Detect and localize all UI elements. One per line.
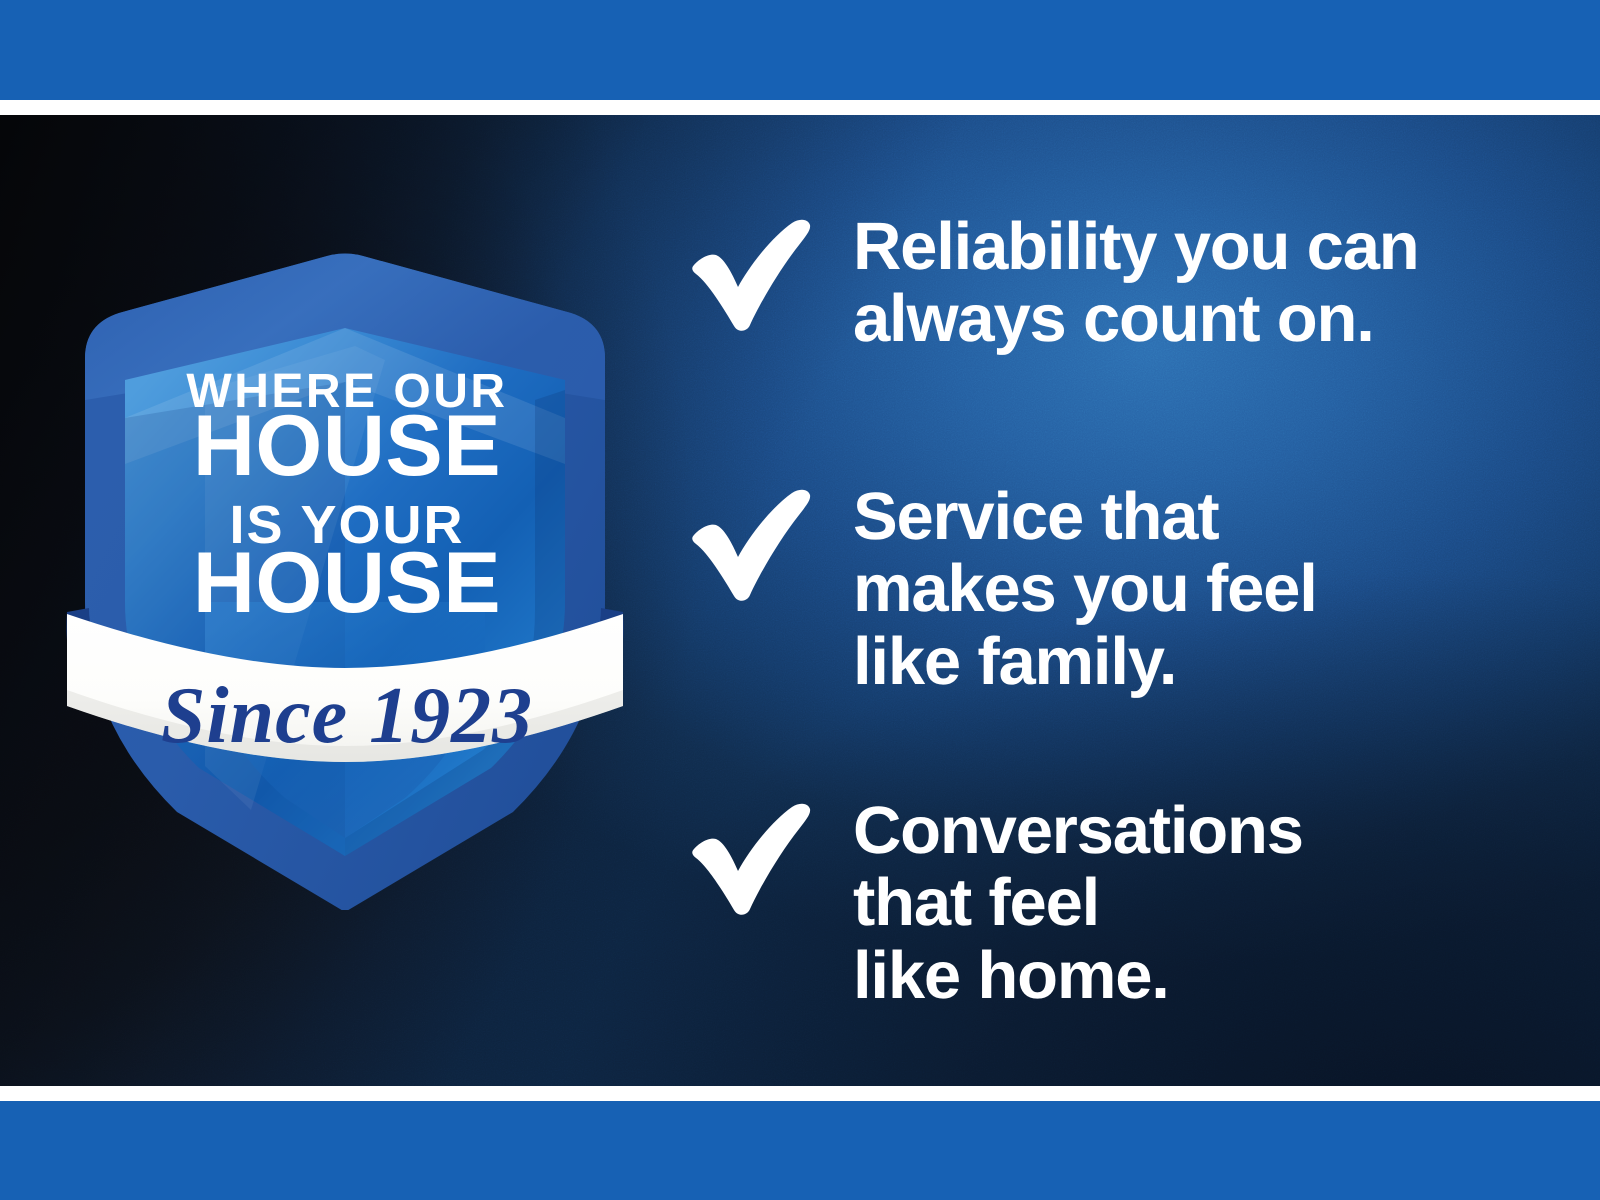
bottom-white-divider [0,1086,1600,1101]
top-white-divider [0,100,1600,115]
shield-text-block: WHERE OUR HOUSE IS YOUR HOUSE [186,365,507,631]
top-brand-bar [0,0,1600,100]
main-content-area: WHERE OUR HOUSE IS YOUR HOUSE Since 1923 [0,115,1600,1086]
benefit-text-conversations: Conversations that feel like home. [853,795,1583,1012]
bottom-brand-bar [0,1101,1600,1200]
promotional-banner: WHERE OUR HOUSE IS YOUR HOUSE Since 1923 [0,0,1600,1200]
checkmark-icon [680,217,822,335]
checkmark-icon [680,487,822,605]
benefit-text-reliability: Reliability you can always count on. [853,211,1583,356]
company-shield-logo: WHERE OUR HOUSE IS YOUR HOUSE Since 1923 [55,250,635,910]
checkmark-icon [680,801,822,919]
shield-line-2: HOUSE [193,398,501,494]
since-banner-text: Since 1923 [161,672,533,760]
benefit-text-service: Service that makes you feel like family. [853,481,1583,698]
shield-line-4: HOUSE [193,535,501,631]
